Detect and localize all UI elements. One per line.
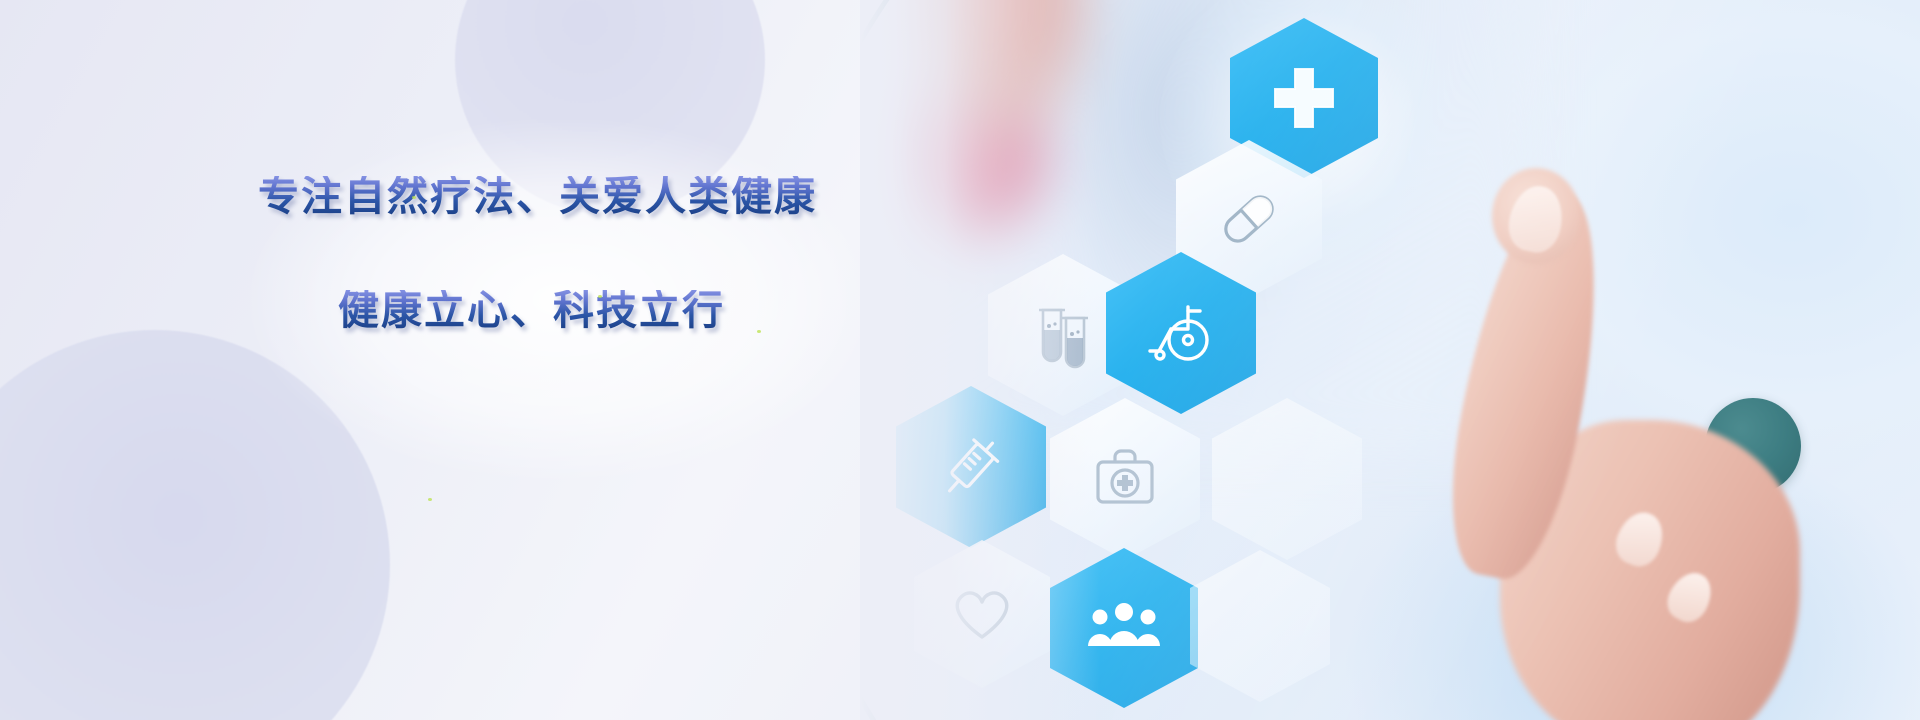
- medical-bag-icon: [1085, 442, 1165, 516]
- medical-cross-icon: [1267, 61, 1341, 135]
- heart-icon: [947, 581, 1017, 647]
- people-group-icon: [1083, 598, 1165, 658]
- sparkle-speck: [412, 196, 416, 199]
- hexagon-decorative: [1212, 398, 1362, 560]
- decorative-circle-bottom-left: [0, 330, 390, 720]
- hero-photo: [860, 0, 1920, 720]
- headline-block: 专注自然疗法、关爱人类健康 健康立心、科技立行: [258, 176, 898, 331]
- hexagon-medical-bag[interactable]: [1050, 398, 1200, 560]
- hexagon-decorative: [1190, 550, 1330, 702]
- test-tubes-icon: [1026, 296, 1100, 374]
- hexagon-syringe[interactable]: [896, 386, 1046, 548]
- hexagon-heart[interactable]: [914, 540, 1050, 688]
- pill-capsule-icon: [1210, 180, 1288, 258]
- hexagon-icon-cluster: [860, 0, 1920, 720]
- hero-banner: 专注自然疗法、关爱人类健康 健康立心、科技立行: [0, 0, 1920, 720]
- sparkle-speck: [757, 330, 761, 333]
- sparkle-speck: [598, 295, 602, 298]
- headline-line-1: 专注自然疗法、关爱人类健康: [258, 176, 898, 217]
- headline-line-2: 健康立心、科技立行: [338, 290, 898, 331]
- hexagon-people-group[interactable]: [1050, 548, 1198, 708]
- wheelchair-icon: [1141, 295, 1221, 371]
- syringe-icon: [931, 427, 1011, 507]
- sparkle-speck: [428, 498, 432, 501]
